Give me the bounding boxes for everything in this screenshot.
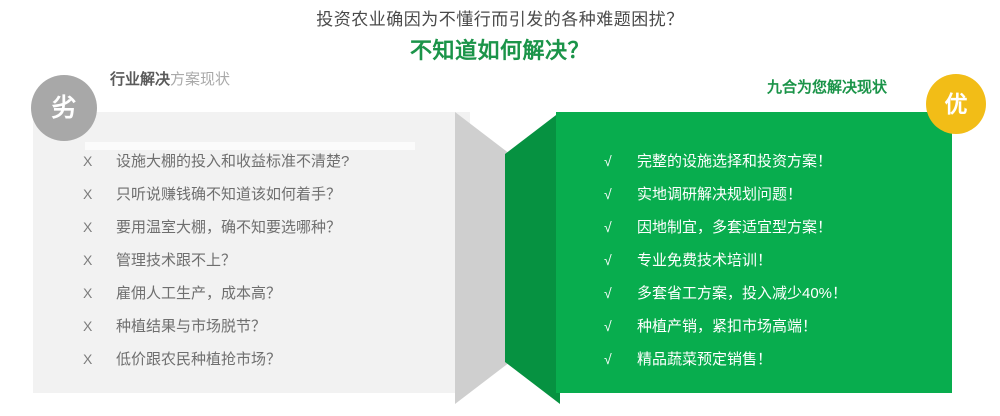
check-icon: √	[604, 252, 637, 268]
list-item: X要用温室大棚，确不知要选哪种？	[83, 210, 349, 243]
list-item-label: 管理技术跟不上？	[116, 249, 236, 270]
list-item-label: 因地制宜，多套适宜型方案！	[637, 216, 832, 237]
fold-gray-face	[455, 100, 510, 416]
cross-icon: X	[83, 219, 116, 235]
check-icon: √	[604, 285, 637, 301]
problem-list: X设施大棚的投入和收益标准不清楚?X只听说赚钱确不知道该如何着手？X要用温室大棚…	[83, 144, 349, 375]
badge-bad-label: 劣	[51, 96, 76, 121]
list-item-label: 多套省工方案，投入减少40%！	[637, 282, 847, 303]
list-item-label: 设施大棚的投入和收益标准不清楚?	[116, 150, 349, 171]
cross-icon: X	[83, 153, 116, 169]
caption-problems-rest: 方案现状	[170, 71, 230, 88]
list-item: √因地制宜，多套适宜型方案！	[604, 210, 847, 243]
list-item-label: 低价跟农民种植抢市场？	[116, 348, 281, 369]
solution-list: √完整的设施选择和投资方案！√实地调研解决规划问题！√因地制宜，多套适宜型方案！…	[604, 144, 847, 375]
cross-icon: X	[83, 186, 116, 202]
list-item: √种植产销，紧扣市场高端！	[604, 309, 847, 342]
comparison-stage: 劣 行业解决方案现状 九合为您解决现状 优 X设施大棚的投入和收益标准不清楚?X…	[0, 0, 1000, 416]
list-item-label: 实地调研解决规划问题！	[637, 183, 802, 204]
list-item: X设施大棚的投入和收益标准不清楚?	[83, 144, 349, 177]
list-item-label: 只听说赚钱确不知道该如何着手？	[116, 183, 341, 204]
cross-icon: X	[83, 318, 116, 334]
list-item-label: 完整的设施选择和投资方案！	[637, 150, 832, 171]
list-item-label: 精品蔬菜预定销售！	[637, 348, 772, 369]
list-item: √多套省工方案，投入减少40%！	[604, 276, 847, 309]
check-icon: √	[604, 219, 637, 235]
list-item: √专业免费技术培训！	[604, 243, 847, 276]
caption-solutions: 九合为您解决现状	[767, 78, 887, 98]
list-item: √精品蔬菜预定销售！	[604, 342, 847, 375]
list-item-label: 雇佣人工生产，成本高？	[116, 282, 281, 303]
list-item: X雇佣人工生产，成本高？	[83, 276, 349, 309]
list-item-label: 要用温室大棚，确不知要选哪种？	[116, 216, 341, 237]
list-item: X管理技术跟不上？	[83, 243, 349, 276]
check-icon: √	[604, 351, 637, 367]
cross-icon: X	[83, 351, 116, 367]
cross-icon: X	[83, 252, 116, 268]
caption-problems: 行业解决方案现状	[110, 70, 230, 90]
badge-bad: 劣	[31, 75, 97, 141]
caption-problems-strong: 行业解决	[110, 71, 170, 88]
check-icon: √	[604, 318, 637, 334]
cross-icon: X	[83, 285, 116, 301]
list-item: X低价跟农民种植抢市场？	[83, 342, 349, 375]
list-item: X只听说赚钱确不知道该如何着手？	[83, 177, 349, 210]
list-item-label: 种植结果与市场脱节？	[116, 315, 266, 336]
check-icon: √	[604, 186, 637, 202]
badge-good: 优	[926, 74, 986, 134]
list-item-label: 专业免费技术培训！	[637, 249, 772, 270]
list-item: √完整的设施选择和投资方案！	[604, 144, 847, 177]
list-item-label: 种植产销，紧扣市场高端！	[637, 315, 817, 336]
badge-good-label: 优	[945, 93, 968, 116]
fold-green-face	[505, 100, 560, 416]
list-item: √实地调研解决规划问题！	[604, 177, 847, 210]
list-item: X种植结果与市场脱节？	[83, 309, 349, 342]
check-icon: √	[604, 153, 637, 169]
